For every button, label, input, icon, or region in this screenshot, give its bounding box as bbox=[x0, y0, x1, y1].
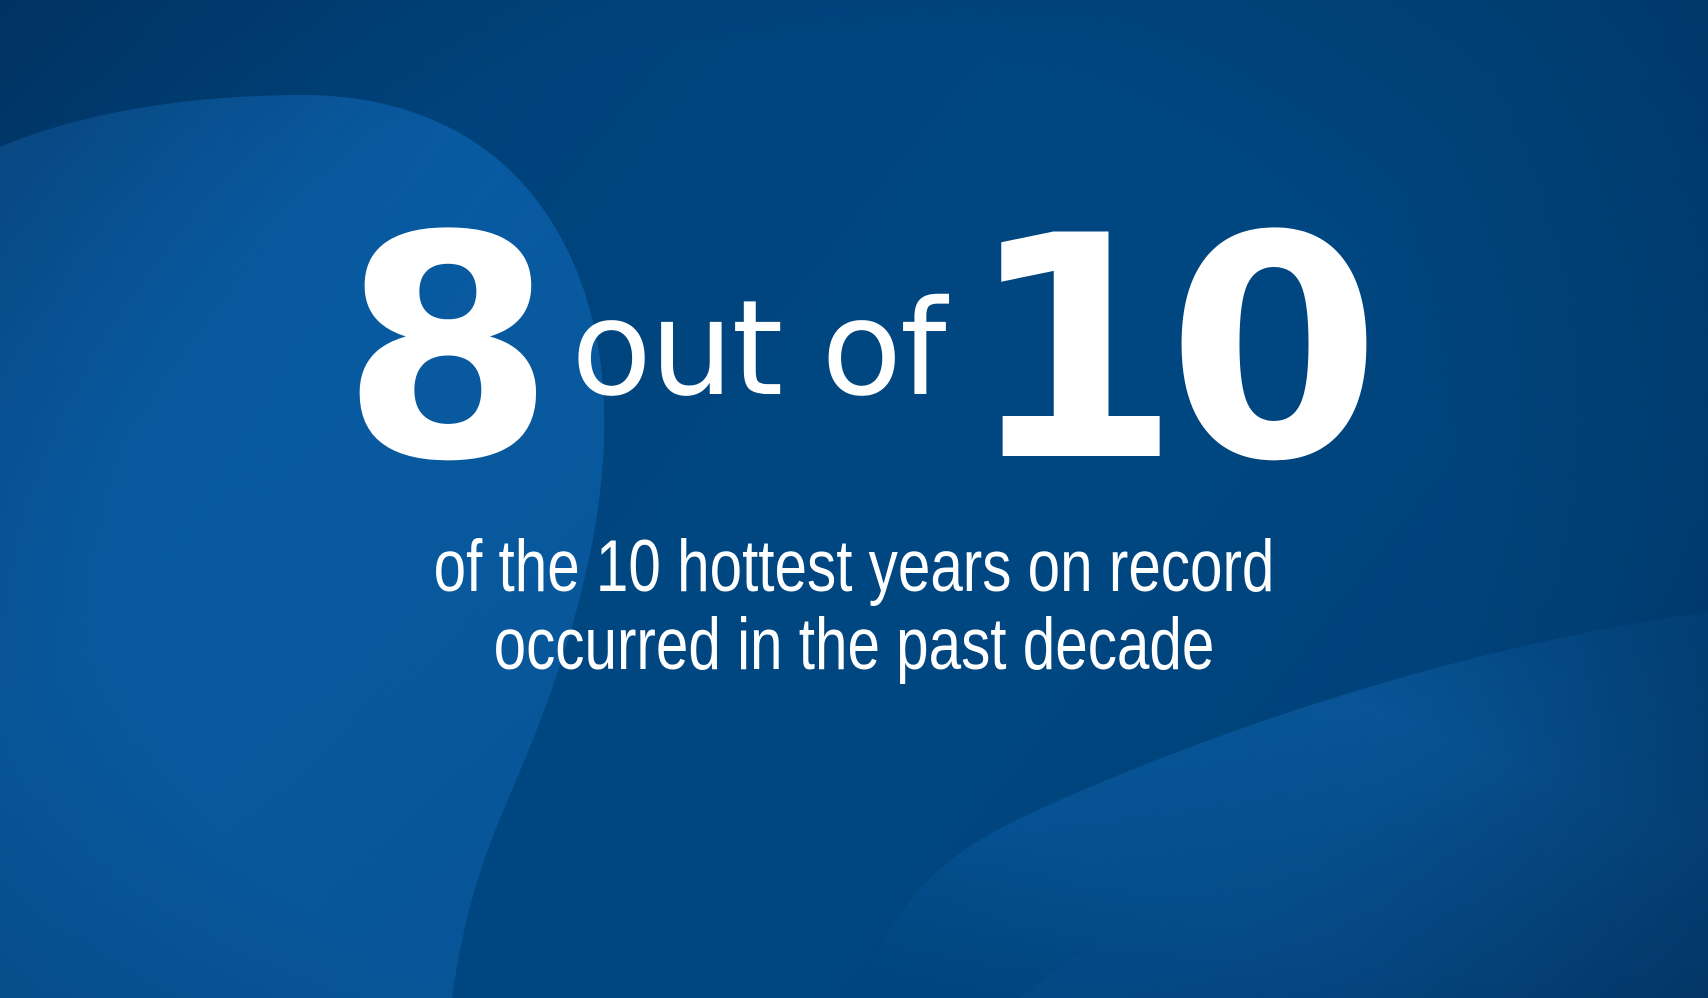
subtitle-line-1: of the 10 hottest years on record bbox=[171, 528, 1537, 606]
infographic-slide: 8 out of 10 of the 10 hottest years on r… bbox=[0, 0, 1708, 998]
statistic-denominator: 10 bbox=[967, 196, 1368, 504]
subtitle-text: of the 10 hottest years on record occurr… bbox=[171, 528, 1537, 684]
statistic-numerator: 8 bbox=[341, 196, 545, 504]
slide-content: 8 out of 10 of the 10 hottest years on r… bbox=[0, 0, 1708, 998]
subtitle-line-2: occurred in the past decade bbox=[171, 606, 1537, 684]
statistic-connector: out of bbox=[571, 283, 944, 415]
headline-statistic: 8 out of 10 bbox=[0, 196, 1708, 506]
